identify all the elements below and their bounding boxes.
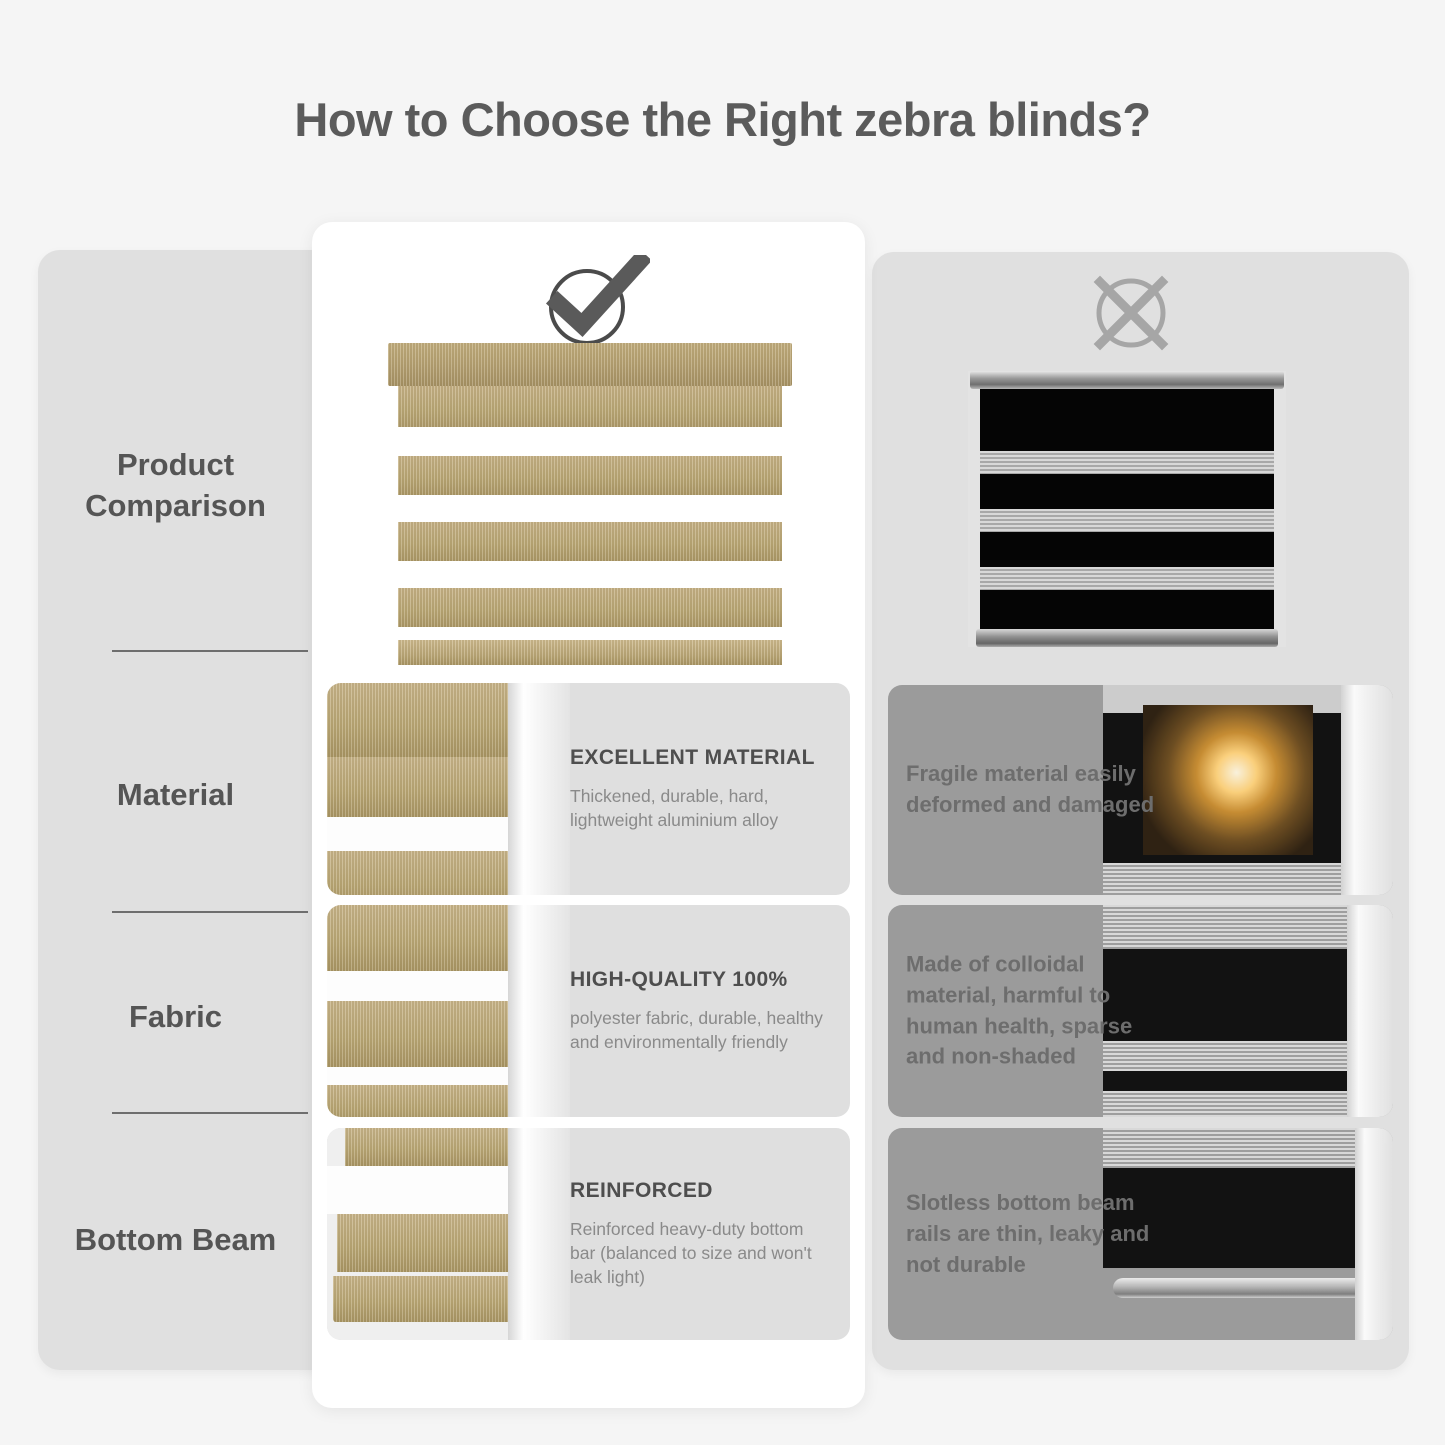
row-label-fabric: Fabric	[38, 987, 313, 1047]
good-body-bottom-beam: Reinforced heavy-duty bottom bar (balanc…	[570, 1217, 832, 1289]
bad-card-bottom-beam: Slotless bottom beam rails are thin, lea…	[888, 1128, 1393, 1340]
bad-card-material: Fragile material easily deformed and dam…	[888, 685, 1393, 895]
label-divider-3	[112, 1112, 308, 1114]
good-title-material: EXCELLENT MATERIAL	[570, 746, 832, 770]
good-body-fabric: polyester fabric, durable, healthy and e…	[570, 1006, 832, 1054]
good-title-bottom-beam: REINFORCED	[570, 1179, 832, 1203]
good-card-bottom-beam: REINFORCED Reinforced heavy-duty bottom …	[327, 1128, 850, 1340]
bad-card-fabric: Made of colloidal material, harmful to h…	[888, 905, 1393, 1117]
label-divider-2	[112, 911, 308, 913]
product-image-beige-zebra-blind	[388, 343, 792, 665]
infographic-root: How to Choose the Right zebra blinds? Pr…	[0, 0, 1445, 1445]
bad-text-fabric: Made of colloidal material, harmful to h…	[906, 949, 1176, 1072]
label-divider-1	[112, 650, 308, 652]
photo-reinforced-bottom-bar	[327, 1128, 570, 1340]
row-label-column: Product Comparison Material Fabric Botto…	[38, 250, 313, 1370]
good-card-material: EXCELLENT MATERIAL Thickened, durable, h…	[327, 683, 850, 895]
photo-beige-blind-closeup	[327, 683, 570, 895]
row-label-product-comparison: Product Comparison	[38, 430, 313, 540]
bad-text-material: Fragile material easily deformed and dam…	[906, 759, 1176, 821]
good-title-fabric: HIGH-QUALITY 100%	[570, 968, 832, 992]
check-circle-icon	[540, 255, 650, 347]
row-label-bottom-beam: Bottom Beam	[38, 1185, 313, 1295]
good-card-fabric: HIGH-QUALITY 100% polyester fabric, dura…	[327, 905, 850, 1117]
good-body-material: Thickened, durable, hard, lightweight al…	[570, 784, 832, 832]
photo-beige-fabric-closeup	[327, 905, 570, 1117]
bad-text-bottom-beam: Slotless bottom beam rails are thin, lea…	[906, 1188, 1176, 1280]
page-title: How to Choose the Right zebra blinds?	[0, 92, 1445, 147]
product-image-black-zebra-blind	[968, 371, 1286, 647]
cross-circle-icon	[1086, 268, 1176, 358]
row-label-material: Material	[38, 765, 313, 825]
